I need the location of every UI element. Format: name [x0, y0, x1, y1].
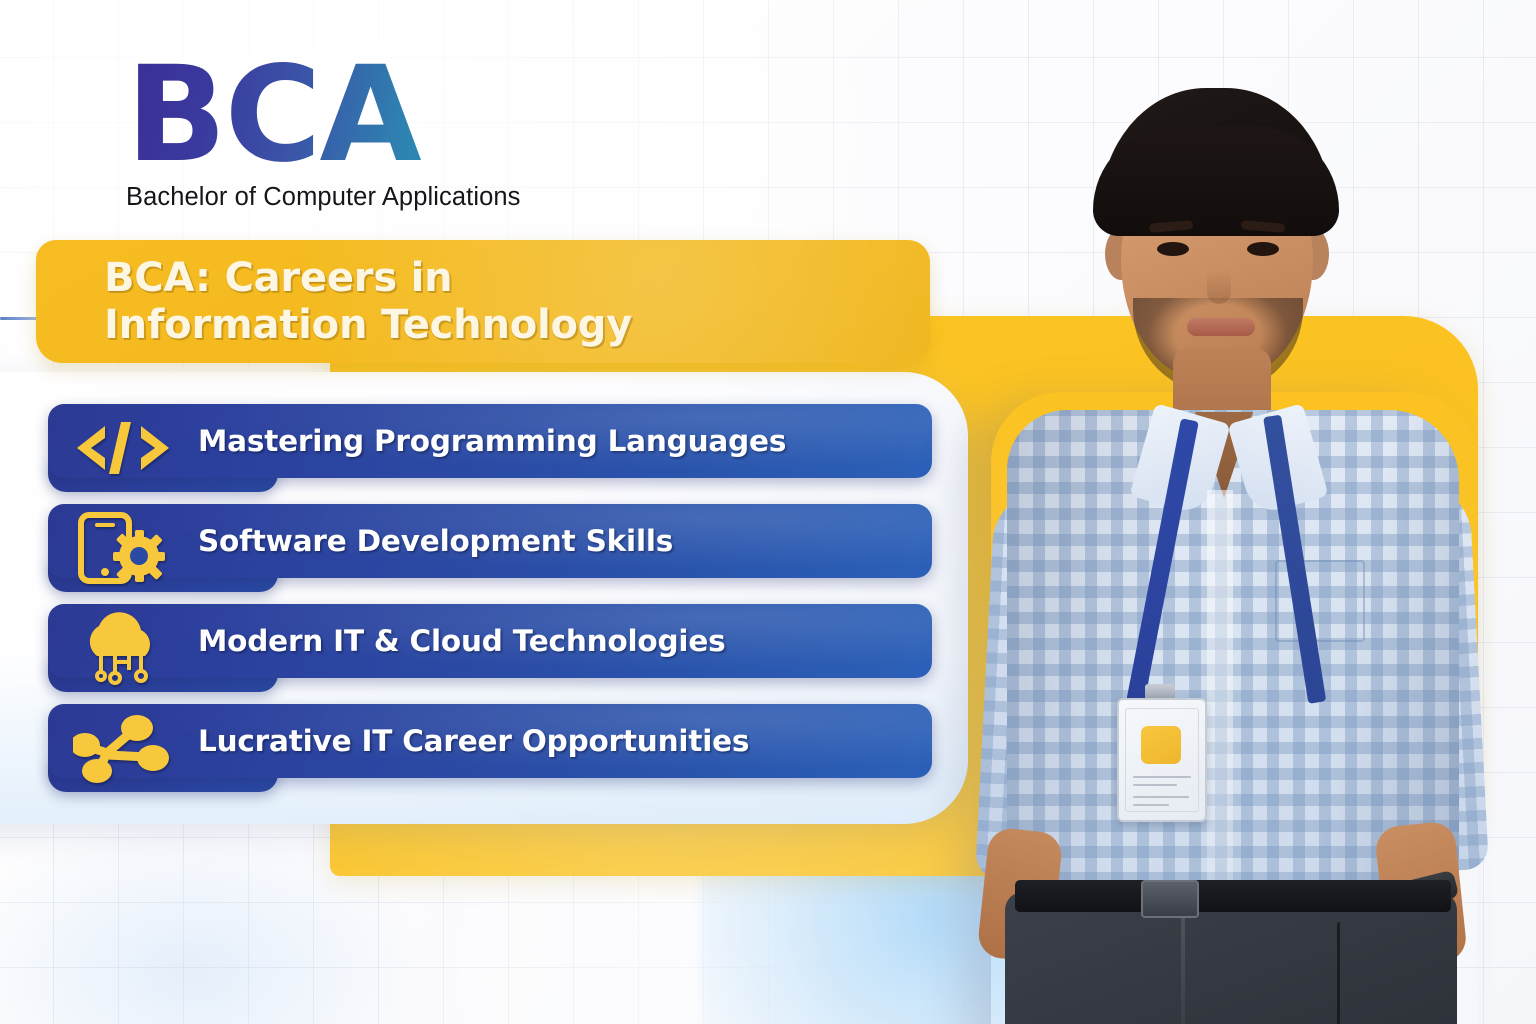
badge-text-line — [1133, 784, 1177, 786]
feature-label: Modern IT & Cloud Technologies — [198, 624, 726, 658]
logo-subtitle: Bachelor of Computer Applications — [126, 183, 521, 212]
pill-body: Modern IT & Cloud Technologies — [48, 604, 932, 678]
feature-item-software-dev[interactable]: Software Development Skills — [0, 504, 960, 578]
title-banner: BCA: Careers in Information Technology — [36, 240, 930, 363]
feature-item-career[interactable]: Lucrative IT Career Opportunities — [0, 704, 960, 778]
badge-text-line — [1133, 796, 1189, 798]
trouser-crease — [1181, 912, 1185, 1024]
student-eye-left — [1157, 242, 1189, 256]
student-photo — [945, 60, 1505, 1024]
cloud-circuit-icon — [48, 598, 198, 698]
pill-body: Software Development Skills — [48, 504, 932, 578]
feature-label: Software Development Skills — [198, 524, 673, 558]
badge-text-line — [1133, 776, 1191, 778]
student-nose — [1207, 256, 1231, 304]
badge-photo — [1141, 726, 1181, 764]
belt-buckle — [1141, 880, 1199, 918]
student-hair-front — [1093, 126, 1339, 236]
feature-item-cloud[interactable]: Modern IT & Cloud Technologies — [0, 604, 960, 678]
logo-wordmark: BCA — [126, 52, 521, 179]
page-title-line-2: Information Technology — [104, 302, 632, 348]
trouser-pocket-seam — [1337, 922, 1340, 1024]
network-share-icon — [48, 698, 198, 798]
student-eye-right — [1247, 242, 1279, 256]
page-title-line-1: BCA: Careers in — [104, 255, 632, 301]
student-belt — [1015, 880, 1451, 912]
pill-body: Mastering Programming Languages — [48, 404, 932, 478]
student-shirt-placket — [1207, 490, 1233, 900]
feature-list: Mastering Programming Languages — [0, 404, 960, 804]
feature-item-programming[interactable]: Mastering Programming Languages — [0, 404, 960, 478]
code-brackets-icon — [48, 398, 198, 498]
feature-label: Lucrative IT Career Opportunities — [198, 724, 749, 758]
poster-canvas: BCA Bachelor of Computer Applications BC… — [0, 0, 1536, 1024]
id-badge — [1117, 698, 1207, 822]
feature-label: Mastering Programming Languages — [198, 424, 786, 458]
bca-logo: BCA Bachelor of Computer Applications — [126, 52, 521, 212]
mobile-gear-icon — [48, 498, 198, 598]
page-title: BCA: Careers in Information Technology — [104, 255, 632, 348]
pill-body: Lucrative IT Career Opportunities — [48, 704, 932, 778]
badge-text-line — [1133, 804, 1169, 806]
